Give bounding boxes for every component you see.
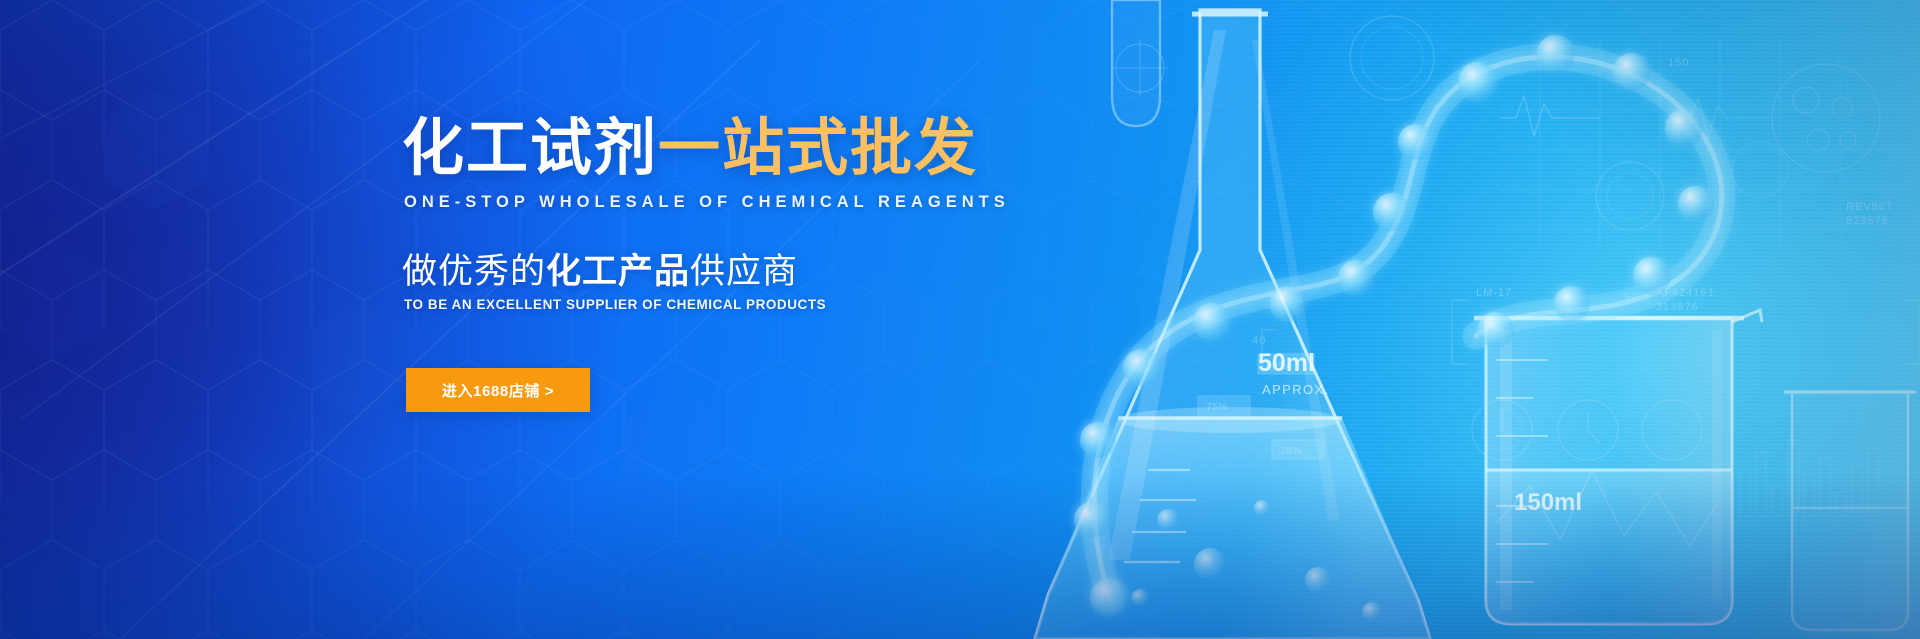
headline-orange-text: 一站式批发 <box>658 114 978 183</box>
enter-1688-shop-button[interactable]: 进入1688店铺 > <box>406 368 590 412</box>
tagline-english: TO BE AN EXCELLENT SUPPLIER OF CHEMICAL … <box>404 297 826 312</box>
cta-button-label: 进入1688店铺 > <box>442 380 554 401</box>
headline-subtitle-english: ONE-STOP WHOLESALE OF CHEMICAL REAGENTS <box>404 193 1010 212</box>
tagline-part-1: 做优秀的 <box>402 252 546 291</box>
banner-content: 化工试剂一站式批发 ONE-STOP WHOLESALE OF CHEMICAL… <box>0 0 1920 639</box>
headline-white-text: 化工试剂 <box>402 114 658 183</box>
hero-banner: 150 REV867 823876 AF424161 313876 LM-17 … <box>0 0 1920 639</box>
page-title: 化工试剂一站式批发 <box>402 118 978 180</box>
tagline-part-2: 供应商 <box>690 252 798 291</box>
tagline-highlight: 化工产品 <box>546 252 690 291</box>
tagline: 做优秀的化工产品供应商 <box>402 254 798 289</box>
